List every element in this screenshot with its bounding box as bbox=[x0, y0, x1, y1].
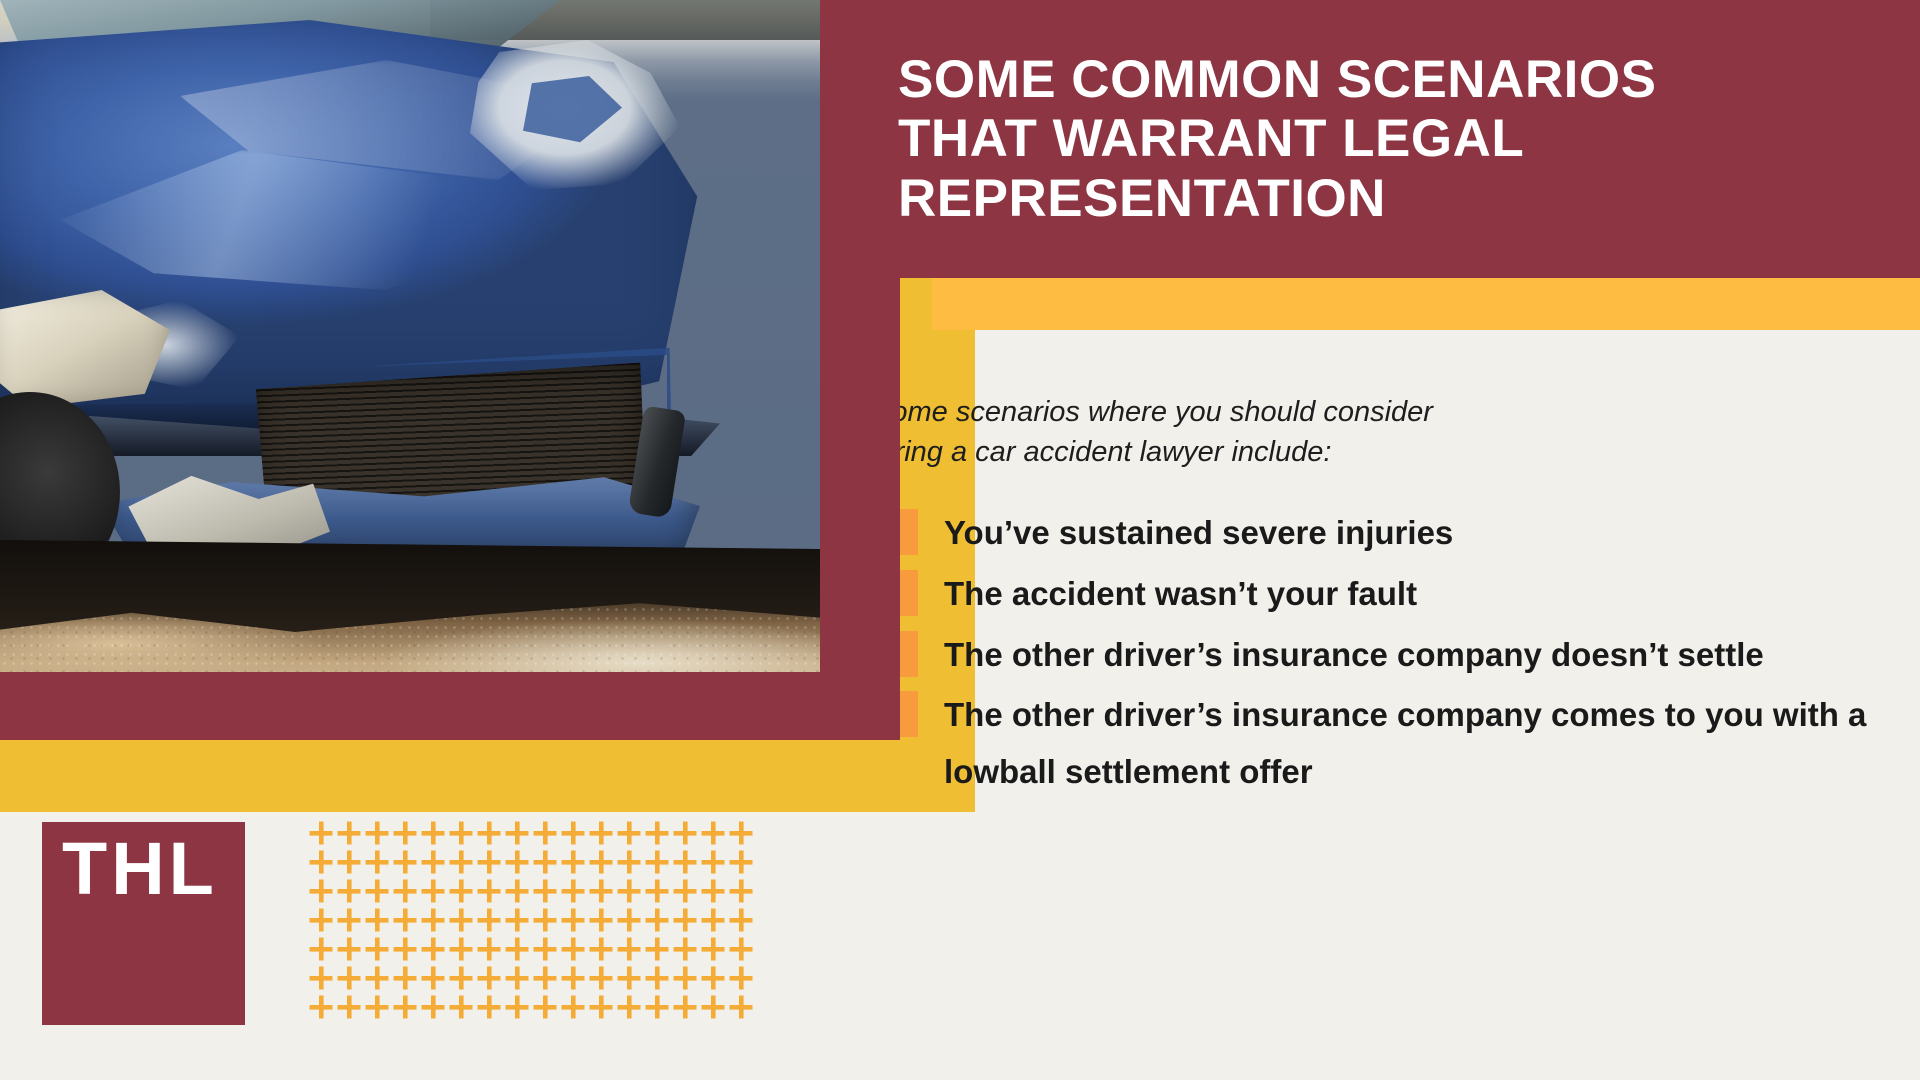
page-title-line-3: REPRESENTATION bbox=[898, 169, 1656, 228]
scenario-bullet-item: The accident wasn’t your fault bbox=[872, 566, 1892, 623]
scenario-bullet-item: The other driver’s insurance company doe… bbox=[872, 627, 1892, 684]
scenario-bullet-label: The accident wasn’t your fault bbox=[944, 566, 1417, 623]
scenario-bullet-label: The other driver’s insurance company doe… bbox=[944, 627, 1764, 684]
scenario-bullet-label: You’ve sustained severe injuries bbox=[944, 505, 1453, 562]
car-crash-photo bbox=[0, 0, 820, 672]
infographic-poster: THL SOME COMMON SCENARIOS THAT WARRANT L… bbox=[0, 0, 1920, 1080]
intro-paragraph: Some scenarios where you should consider… bbox=[872, 392, 1752, 472]
scenario-bullet-item: The other driver’s insurance company com… bbox=[872, 687, 1892, 801]
scenario-bullet-list: You’ve sustained severe injuriesThe acci… bbox=[872, 505, 1892, 805]
page-title-line-2: THAT WARRANT LEGAL bbox=[898, 109, 1656, 168]
intro-line-1: Some scenarios where you should consider bbox=[872, 392, 1752, 432]
scenario-bullet-item: You’ve sustained severe injuries bbox=[872, 505, 1892, 562]
thl-logo-text: THL bbox=[62, 832, 218, 906]
title-block: SOME COMMON SCENARIOS THAT WARRANT LEGAL… bbox=[866, 0, 1920, 278]
plus-pattern-decoration bbox=[308, 820, 760, 1030]
thl-logo[interactable]: THL bbox=[42, 822, 245, 1025]
intro-line-2: hiring a car accident lawyer include: bbox=[872, 432, 1752, 472]
page-title-line-1: SOME COMMON SCENARIOS bbox=[898, 50, 1656, 109]
title-accent-bar bbox=[932, 278, 1920, 330]
page-title: SOME COMMON SCENARIOS THAT WARRANT LEGAL… bbox=[866, 50, 1680, 228]
scenario-bullet-label: The other driver’s insurance company com… bbox=[944, 687, 1892, 801]
